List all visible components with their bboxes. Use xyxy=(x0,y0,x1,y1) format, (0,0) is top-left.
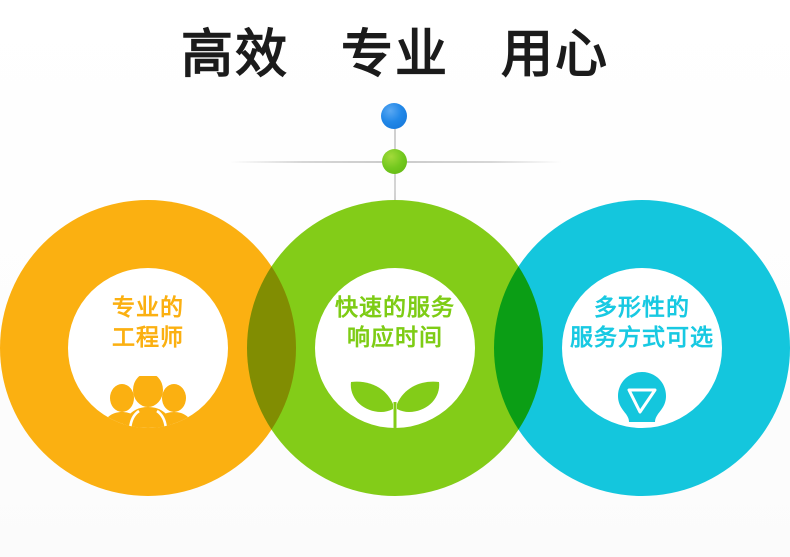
people-group-icon xyxy=(68,370,228,428)
circle-response-text: 快速的服务 响应时间 xyxy=(315,294,475,354)
circle-response[interactable]: 快速的服务 响应时间 xyxy=(315,268,475,428)
circle-response-line1: 快速的服务 xyxy=(335,295,455,321)
circle-response-line2: 响应时间 xyxy=(315,324,475,354)
circle-service-modes-line2: 服务方式可选 xyxy=(562,324,722,354)
circle-engineers-text: 专业的 工程师 xyxy=(68,294,228,354)
circle-engineers[interactable]: 专业的 工程师 xyxy=(68,268,228,428)
circle-engineers-line1: 专业的 xyxy=(112,295,184,321)
circle-service-modes[interactable]: 多形性的 服务方式可选 xyxy=(562,268,722,428)
circle-service-modes-line1: 多形性的 xyxy=(594,295,690,321)
circle-service-modes-text: 多形性的 服务方式可选 xyxy=(562,294,722,354)
circle-engineers-line2: 工程师 xyxy=(68,324,228,354)
poster-canvas: 高效专业用心 专业的 工程师 xyxy=(0,0,790,557)
lightbulb-icon xyxy=(562,370,722,428)
sprout-icon xyxy=(315,370,475,428)
